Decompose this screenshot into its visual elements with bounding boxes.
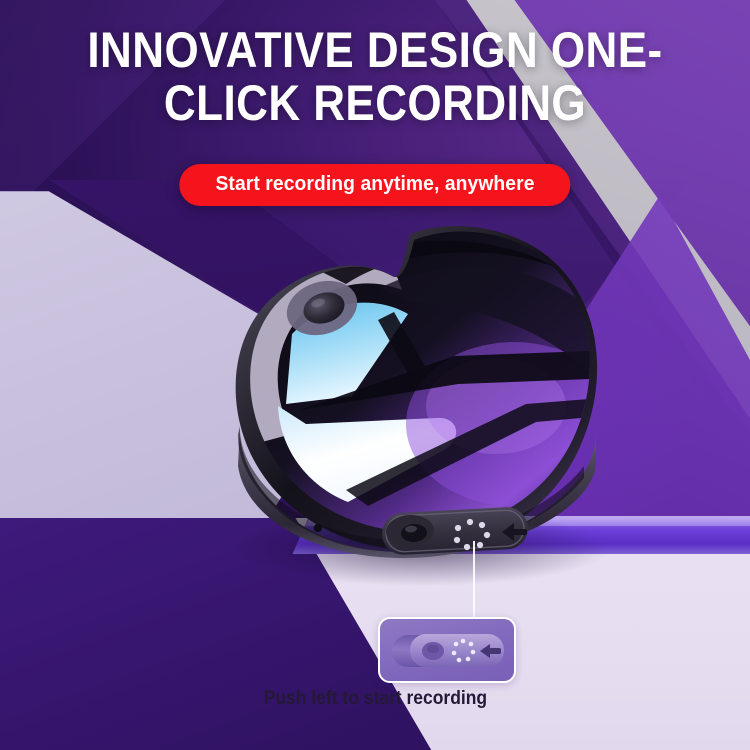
control-panel[interactable] [381, 506, 529, 556]
status-badge-label: Start recording anytime, anywhere [215, 172, 534, 196]
callout-caption-text: Push left to start recording [263, 688, 486, 710]
microphone-hole [314, 524, 322, 532]
slider-switch-zoom-callout [378, 617, 516, 683]
callout-caption: Push left to start recording [0, 688, 750, 710]
product-image [196, 228, 636, 588]
product-banner: INNOVATIVE DESIGN ONE- CLICK RECORDING S… [0, 0, 750, 750]
page-title: INNOVATIVE DESIGN ONE- CLICK RECORDING [45, 24, 705, 130]
callout-leader-line [473, 541, 475, 619]
status-badge: Start recording anytime, anywhere [179, 164, 570, 206]
